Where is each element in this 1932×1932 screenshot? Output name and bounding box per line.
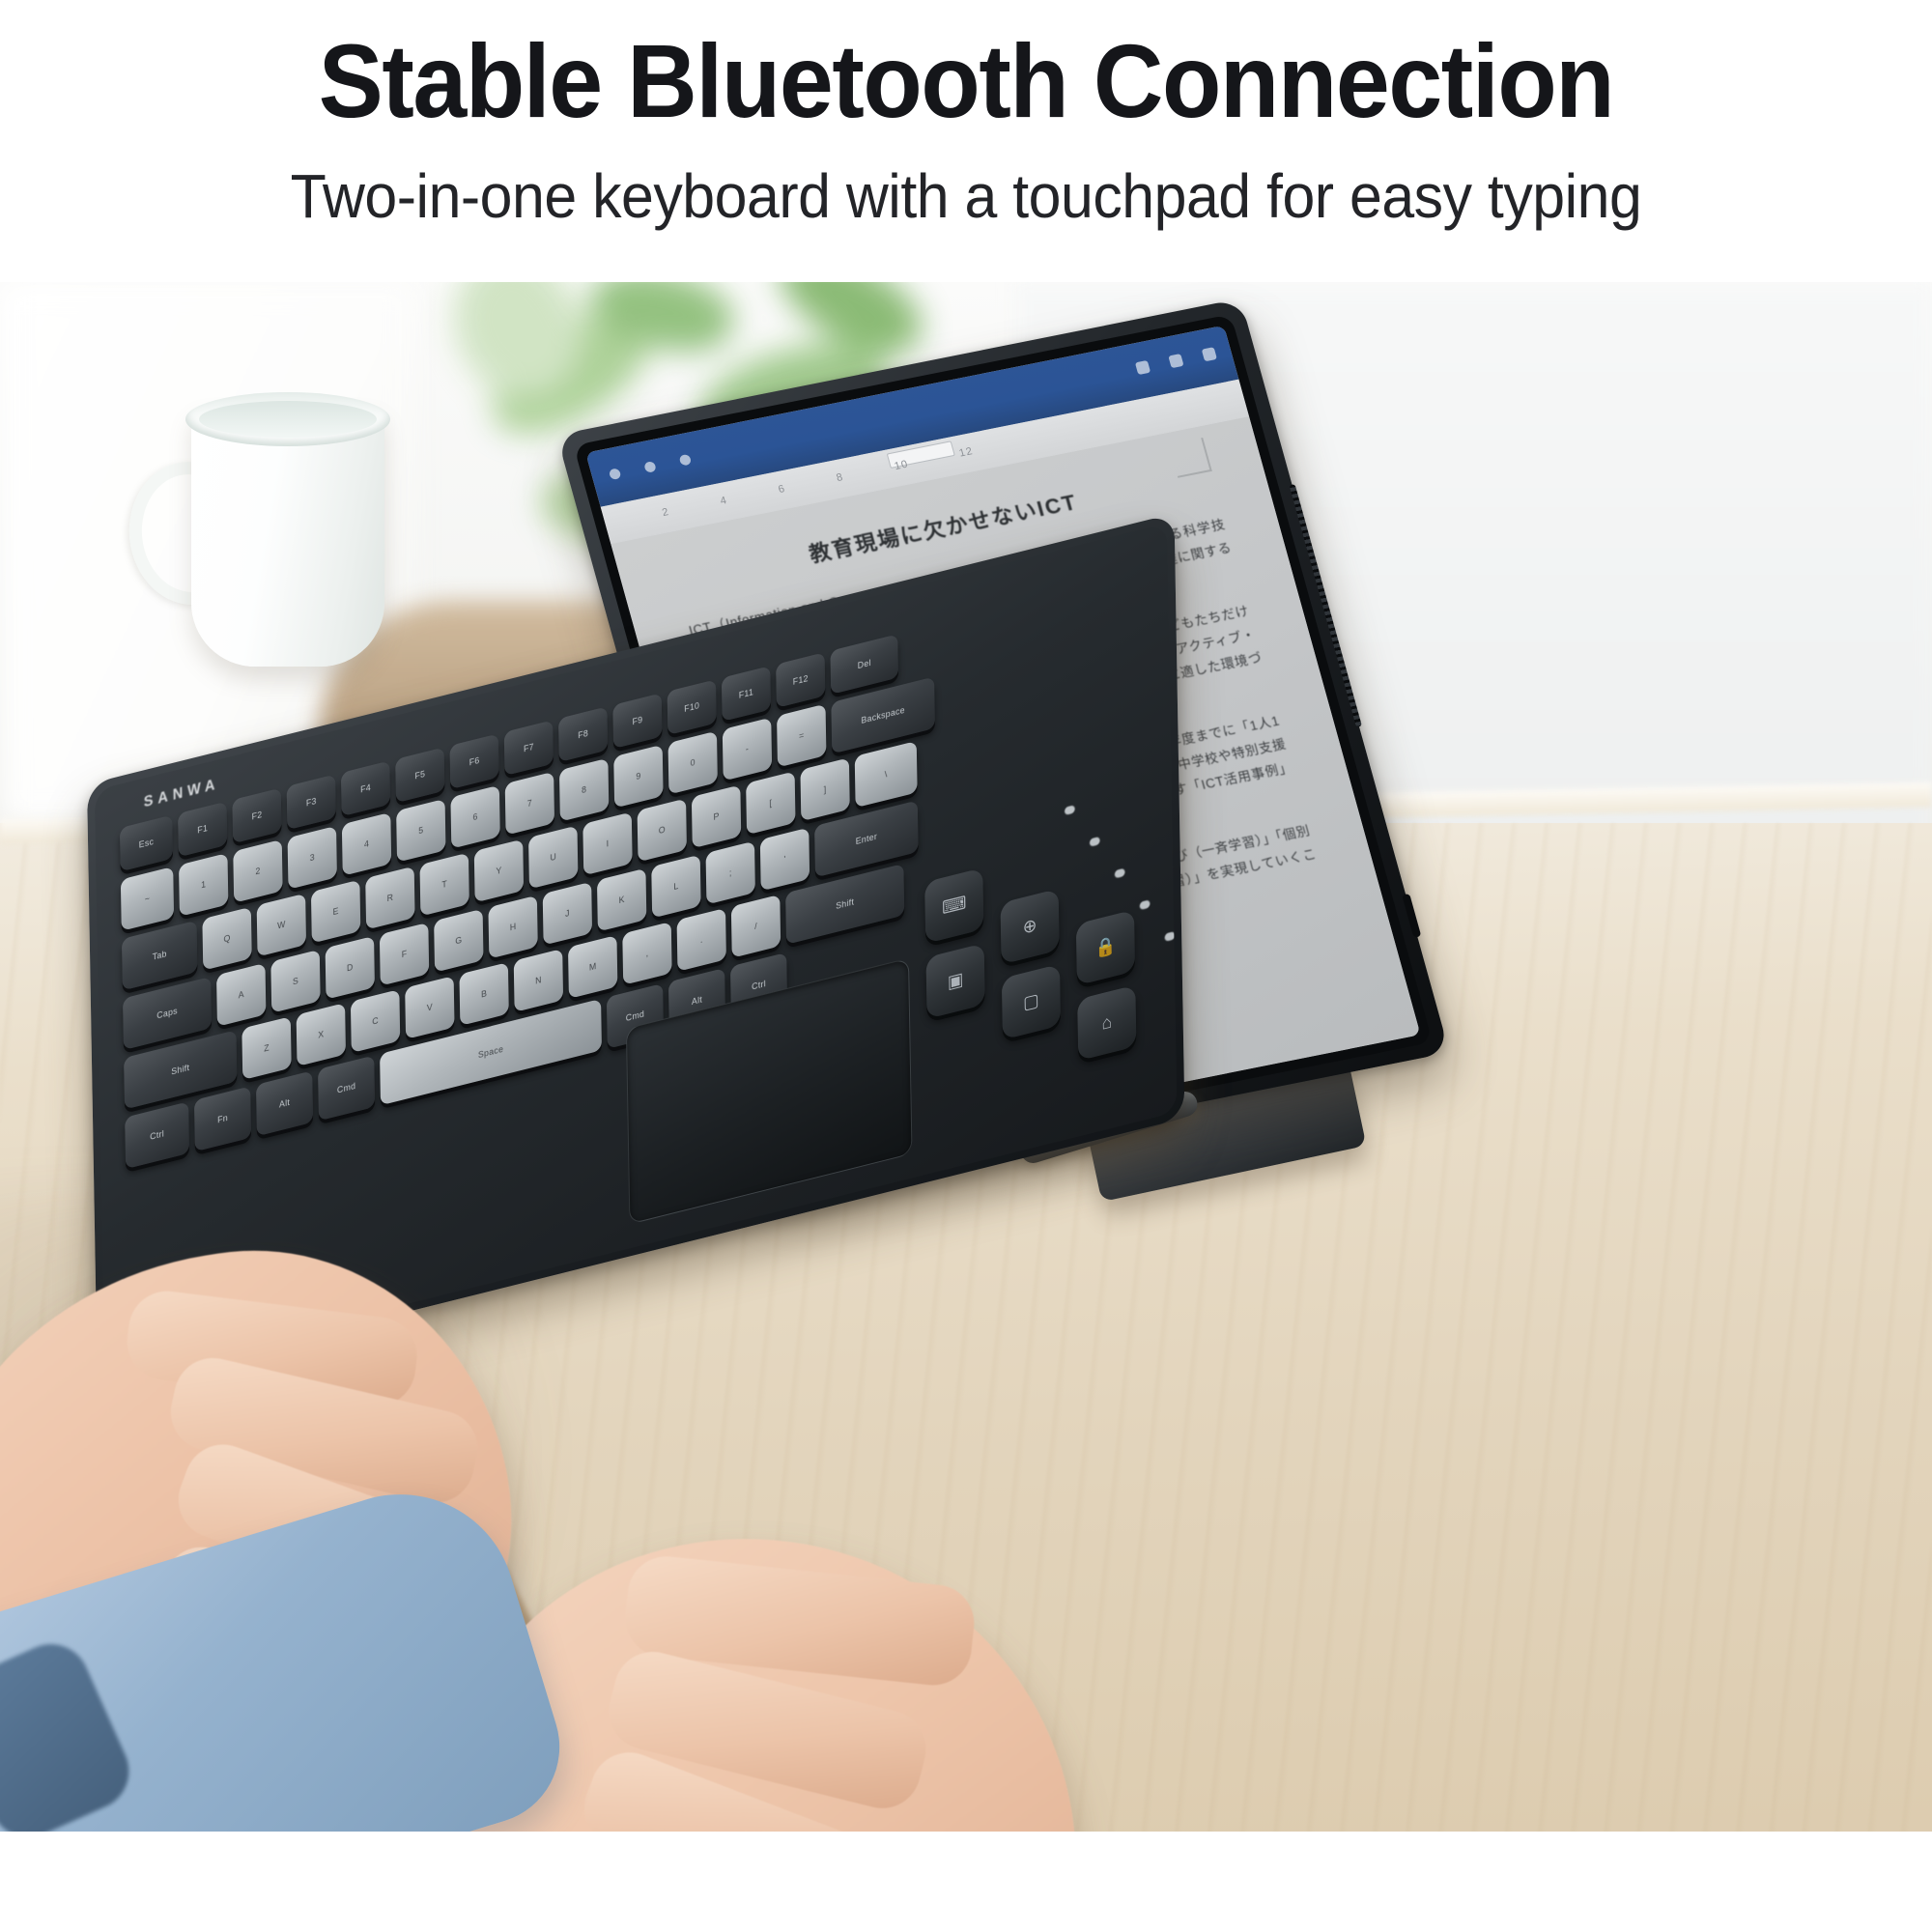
key-backslash[interactable]: \: [855, 741, 918, 808]
menu-dot-icon[interactable]: [643, 461, 657, 473]
key-z[interactable]: Z: [241, 1016, 291, 1080]
key-f10[interactable]: F10: [668, 679, 717, 735]
key-1[interactable]: 1: [179, 853, 228, 917]
share-icon[interactable]: [1135, 360, 1151, 375]
menu-dot-icon[interactable]: [679, 454, 693, 467]
home-key[interactable]: ▢: [1002, 964, 1061, 1040]
key-i[interactable]: I: [582, 811, 632, 875]
ruler-mark: 8: [835, 471, 844, 484]
search-key[interactable]: ⌂: [1077, 985, 1136, 1062]
key-o[interactable]: O: [638, 798, 687, 862]
key-m[interactable]: M: [568, 935, 617, 999]
pairing-led-icon: [1140, 899, 1151, 910]
key-b[interactable]: B: [459, 962, 508, 1026]
key-v[interactable]: V: [405, 976, 454, 1039]
key-f9[interactable]: F9: [612, 693, 662, 749]
key-e[interactable]: E: [311, 880, 360, 944]
key-minus[interactable]: -: [723, 718, 772, 781]
key-f1[interactable]: F1: [178, 802, 227, 858]
key-tilde[interactable]: ~: [121, 867, 174, 931]
page-subtitle: Two-in-one keyboard with a touchpad for …: [48, 162, 1884, 230]
key-k[interactable]: K: [597, 868, 646, 932]
key-h[interactable]: H: [488, 895, 537, 959]
key-f11[interactable]: F11: [722, 666, 771, 722]
ruler-mark: 2: [661, 506, 670, 519]
ruler-mark: 10: [894, 459, 910, 472]
key-g[interactable]: G: [434, 909, 483, 973]
key-f6[interactable]: F6: [449, 733, 498, 789]
key-a[interactable]: A: [216, 963, 266, 1027]
key-c[interactable]: C: [351, 989, 400, 1053]
key-4[interactable]: 4: [342, 812, 391, 876]
bluetooth-led-icon: [1065, 805, 1075, 815]
language-key[interactable]: ⊕: [1000, 889, 1059, 965]
lifestyle-photo: 2 4 6 8 10 12 教育現場に欠かせないICT ICT（Informat…: [0, 282, 1932, 1832]
key-x[interactable]: X: [297, 1003, 346, 1066]
key-equals[interactable]: =: [777, 704, 826, 768]
key-l[interactable]: L: [651, 855, 700, 919]
header-banner: Stable Bluetooth Connection Two-in-one k…: [0, 0, 1932, 280]
key-5[interactable]: 5: [396, 799, 445, 863]
key-n[interactable]: N: [514, 949, 563, 1012]
key-cmd-left[interactable]: Cmd: [318, 1055, 375, 1121]
key-0[interactable]: 0: [668, 731, 718, 795]
key-quote[interactable]: ': [760, 828, 810, 892]
key-alt-left[interactable]: Alt: [256, 1070, 313, 1136]
key-u[interactable]: U: [528, 825, 578, 889]
key-comma[interactable]: ,: [622, 922, 671, 985]
search-icon[interactable]: [1168, 354, 1183, 368]
screenshot-key[interactable]: ▣: [926, 943, 985, 1019]
key-f4[interactable]: F4: [341, 760, 390, 816]
key-f8[interactable]: F8: [558, 706, 608, 762]
product-marketing-image: Stable Bluetooth Connection Two-in-one k…: [0, 0, 1932, 1932]
lock-key[interactable]: 🔒: [1076, 910, 1135, 986]
key-bracket-left[interactable]: [: [746, 771, 795, 835]
key-tab[interactable]: Tab: [122, 921, 198, 991]
key-d[interactable]: D: [326, 936, 375, 1000]
key-j[interactable]: J: [543, 882, 592, 946]
more-icon[interactable]: [1202, 347, 1217, 361]
coffee-mug: [135, 388, 396, 678]
ruler-mark: 12: [958, 445, 975, 459]
key-6[interactable]: 6: [450, 785, 499, 849]
key-esc[interactable]: Esc: [120, 815, 173, 872]
ribbon-menu-icons[interactable]: [609, 454, 693, 480]
ruler-mark: 6: [777, 483, 786, 496]
key-9[interactable]: 9: [613, 745, 663, 809]
key-t[interactable]: T: [419, 853, 469, 917]
key-f2[interactable]: F2: [232, 788, 281, 844]
key-2[interactable]: 2: [233, 839, 282, 903]
keyboard-toggle-key[interactable]: ⌨: [924, 867, 983, 944]
key-ctrl-left[interactable]: Ctrl: [125, 1101, 189, 1169]
ribbon-right-icons[interactable]: [1135, 347, 1217, 375]
key-bracket-right[interactable]: ]: [800, 757, 849, 821]
key-3[interactable]: 3: [288, 826, 337, 890]
key-q[interactable]: Q: [202, 907, 251, 971]
key-p[interactable]: P: [692, 784, 741, 848]
key-f5[interactable]: F5: [395, 747, 444, 803]
key-f3[interactable]: F3: [287, 774, 336, 830]
key-s[interactable]: S: [270, 950, 320, 1013]
key-w[interactable]: W: [257, 894, 306, 957]
key-r[interactable]: R: [365, 867, 414, 930]
key-fn[interactable]: Fn: [194, 1086, 251, 1151]
caps-lock-led-icon: [1090, 837, 1100, 847]
key-f[interactable]: F: [380, 923, 429, 986]
key-y[interactable]: Y: [474, 839, 524, 903]
page-title: Stable Bluetooth Connection: [68, 27, 1864, 135]
key-f12[interactable]: F12: [776, 652, 825, 708]
key-semicolon[interactable]: ;: [706, 841, 755, 905]
mug-interior: [199, 401, 377, 438]
connect-led-icon: [1165, 931, 1176, 942]
key-f7[interactable]: F7: [504, 720, 554, 776]
key-period[interactable]: .: [677, 908, 726, 972]
battery-led-icon: [1115, 868, 1125, 879]
key-8[interactable]: 8: [559, 758, 609, 822]
key-delete[interactable]: Del: [830, 634, 898, 695]
ruler-mark: 4: [719, 495, 728, 507]
key-slash[interactable]: /: [731, 895, 781, 958]
menu-dot-icon[interactable]: [609, 468, 622, 480]
key-7[interactable]: 7: [505, 772, 554, 836]
